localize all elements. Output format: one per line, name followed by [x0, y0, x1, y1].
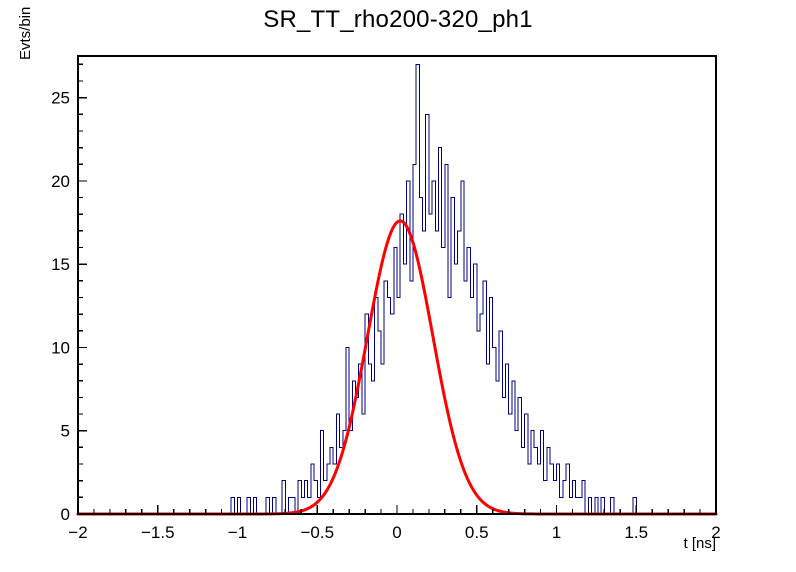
x-tick-label: −0.5 — [300, 523, 334, 542]
x-tick-label: 0 — [392, 523, 401, 542]
y-tick-label: 25 — [51, 89, 70, 108]
y-axis-title: Evts/bin — [17, 7, 34, 60]
root-canvas: SR_TT_rho200-320_ph1 −2−1.5−1−0.500.511.… — [0, 0, 796, 572]
x-tick-label: 1 — [552, 523, 561, 542]
y-tick-label: 5 — [61, 422, 70, 441]
histogram-series — [78, 64, 716, 514]
x-tick-label: 1.5 — [624, 523, 648, 542]
y-tick-label: 10 — [51, 338, 70, 357]
y-tick-label: 20 — [51, 172, 70, 191]
x-tick-label: −2 — [68, 523, 87, 542]
axis-tick-labels: −2−1.5−1−0.500.511.520510152025 — [51, 89, 721, 542]
chart-svg: −2−1.5−1−0.500.511.520510152025 t [ns] E… — [0, 0, 796, 572]
x-tick-label: −1.5 — [141, 523, 175, 542]
x-tick-label: −1 — [228, 523, 247, 542]
x-axis-title: t [ns] — [683, 535, 716, 552]
y-tick-label: 0 — [61, 505, 70, 524]
x-tick-label: 0.5 — [465, 523, 489, 542]
y-tick-label: 15 — [51, 255, 70, 274]
